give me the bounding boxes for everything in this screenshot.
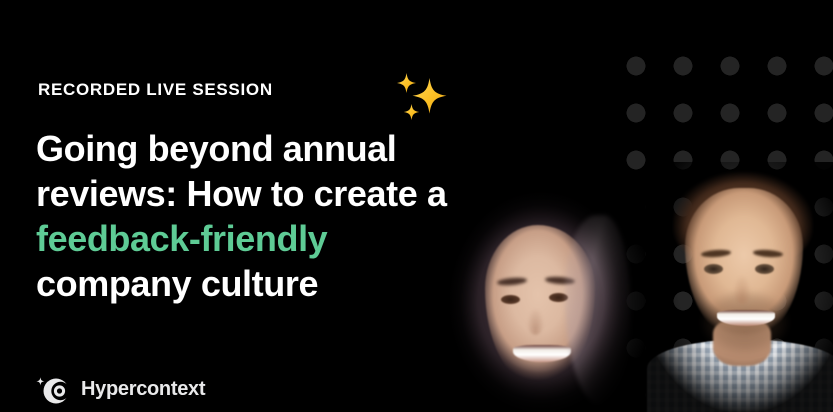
portrait-two-brow-left (701, 249, 731, 258)
portrait-two-eye-right (755, 264, 774, 274)
session-type-label: RECORDED LIVE SESSION (38, 80, 273, 100)
portrait-two-plaid-shirt (647, 340, 833, 412)
portrait-one-edge-fade (437, 185, 645, 412)
headline-line-3-accent: feedback-friendly (36, 218, 327, 259)
portrait-two-beard (693, 288, 797, 362)
portrait-one-nose (527, 309, 544, 335)
portrait-one-eye-left (501, 295, 520, 304)
speaker-portrait-one (437, 185, 645, 412)
hypercontext-logo[interactable]: Hypercontext (36, 372, 205, 406)
headline-line-1: Going beyond annual (36, 128, 396, 169)
portrait-two-brow-right (753, 249, 783, 258)
portrait-one-eye-right (549, 293, 568, 302)
headline-line-4: company culture (36, 263, 318, 304)
speaker-portrait-two (645, 162, 833, 412)
portrait-two-nose (733, 276, 751, 304)
portrait-two-hair (673, 164, 813, 262)
portrait-two-face (685, 188, 803, 340)
portrait-one-face (485, 225, 595, 383)
portrait-two-eye-left (704, 264, 723, 274)
dot-grid-pattern (625, 55, 833, 412)
portrait-two-neck (713, 320, 771, 366)
portrait-two-edge-fade (645, 162, 833, 412)
portrait-two-smile (717, 310, 775, 326)
hypercontext-wordmark: Hypercontext (81, 379, 205, 399)
headline-line-2: reviews: How to create a (36, 173, 447, 214)
promo-text-block: RECORDED LIVE SESSION Going beyond annua… (0, 0, 460, 412)
portrait-one-hair-highlight (565, 215, 631, 405)
hypercontext-logo-mark (36, 372, 72, 406)
sparkles-icon (392, 68, 452, 130)
portrait-one-hair (445, 191, 637, 412)
portrait-one-brow-left (497, 277, 527, 287)
portrait-one-smile (513, 345, 571, 362)
webinar-promo-card: RECORDED LIVE SESSION Going beyond annua… (0, 0, 833, 412)
portrait-one-brow-right (545, 276, 575, 285)
page-title: Going beyond annual reviews: How to crea… (36, 126, 456, 306)
